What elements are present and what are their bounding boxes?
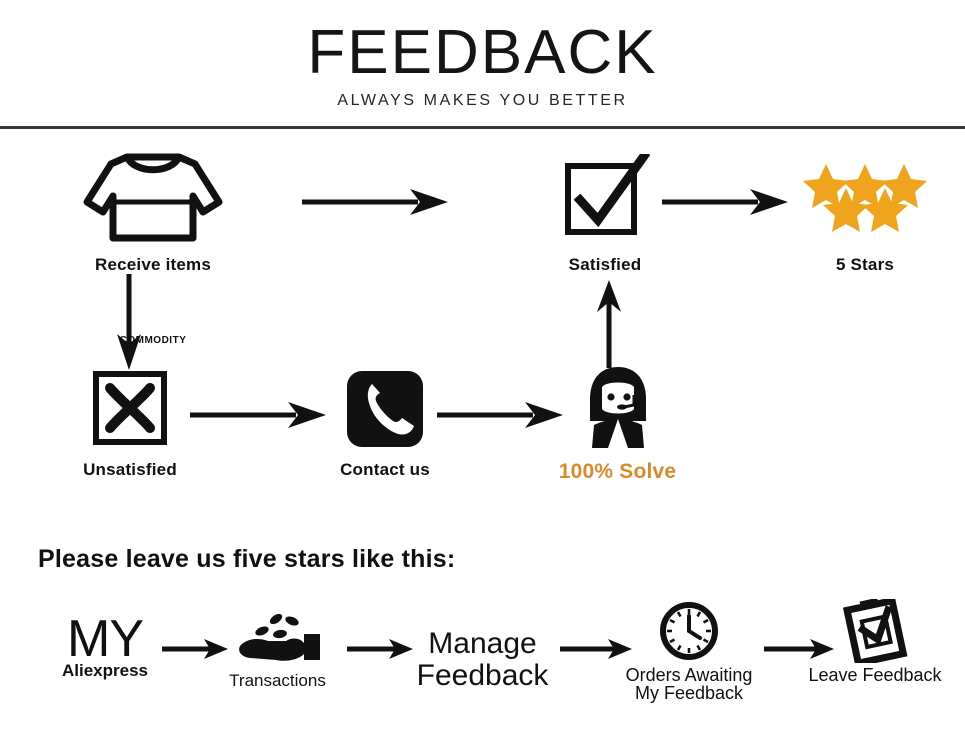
support-agent-icon (574, 365, 662, 450)
sweater-icon (83, 152, 223, 244)
instructions-heading: Please leave us five stars like this: (38, 545, 455, 574)
arrow-satisfied-to-stars (660, 185, 790, 224)
arrow-receive-to-unsatisfied (112, 272, 146, 377)
clock-icon-wrap (598, 600, 780, 662)
step-orders-awaiting-label: Orders Awaiting My Feedback (598, 666, 780, 703)
flow-node-solve: 100% Solve (530, 365, 705, 484)
five-stars-icon-wrap (780, 150, 950, 245)
page-header: FEEDBACK ALWAYS MAKES YOU BETTER (0, 0, 965, 128)
clipboard-check-icon (842, 599, 908, 663)
step-leave-feedback[interactable]: Leave Feedback (790, 600, 960, 685)
sweater-icon-wrap (38, 150, 268, 245)
five-stars-icon (800, 158, 930, 238)
arrow-solve-to-satisfied (592, 278, 626, 375)
checkbox-checked-icon (560, 154, 650, 242)
flow-node-receive-items-label: Receive items (38, 255, 268, 275)
hand-coins-icon (232, 612, 324, 666)
my-aliexpress-big-text: MY (35, 615, 175, 664)
telephone-icon (346, 370, 424, 448)
step-manage-feedback[interactable]: Manage Feedback (390, 628, 575, 691)
arrow-receive-to-satisfied (300, 185, 450, 224)
flow-node-five-stars: 5 Stars (780, 150, 950, 275)
step-my-aliexpress-label: Aliexpress (35, 662, 175, 680)
support-agent-icon-wrap (530, 365, 705, 450)
step-leave-feedback-label: Leave Feedback (790, 666, 960, 685)
page-subtitle: ALWAYS MAKES YOU BETTER (0, 84, 965, 110)
step-transactions-label: Transactions (210, 672, 345, 690)
flow-node-solve-label: 100% Solve (530, 460, 705, 484)
flow-node-contact-us-label: Contact us (305, 460, 465, 480)
sweater-commodity-text: COMMODITY (38, 335, 268, 346)
flow-node-unsatisfied-label: Unsatisfied (40, 460, 220, 480)
step-orders-awaiting[interactable]: Orders Awaiting My Feedback (598, 600, 780, 703)
header-divider (0, 126, 965, 129)
flow-node-five-stars-label: 5 Stars (780, 255, 950, 275)
flow-node-receive-items: COMMODITY Receive items (38, 150, 268, 275)
clock-icon (659, 601, 719, 661)
step-transactions[interactable]: Transactions (210, 612, 345, 690)
hand-coins-icon-wrap (210, 612, 345, 666)
step-manage-feedback-text: Manage Feedback (390, 628, 575, 691)
flow-node-satisfied-label: Satisfied (505, 255, 705, 275)
step-my-aliexpress[interactable]: MY Aliexpress (35, 615, 175, 680)
checkbox-crossed-icon (90, 370, 170, 448)
clipboard-check-icon-wrap (790, 600, 960, 662)
page-title: FEEDBACK (0, 0, 965, 84)
